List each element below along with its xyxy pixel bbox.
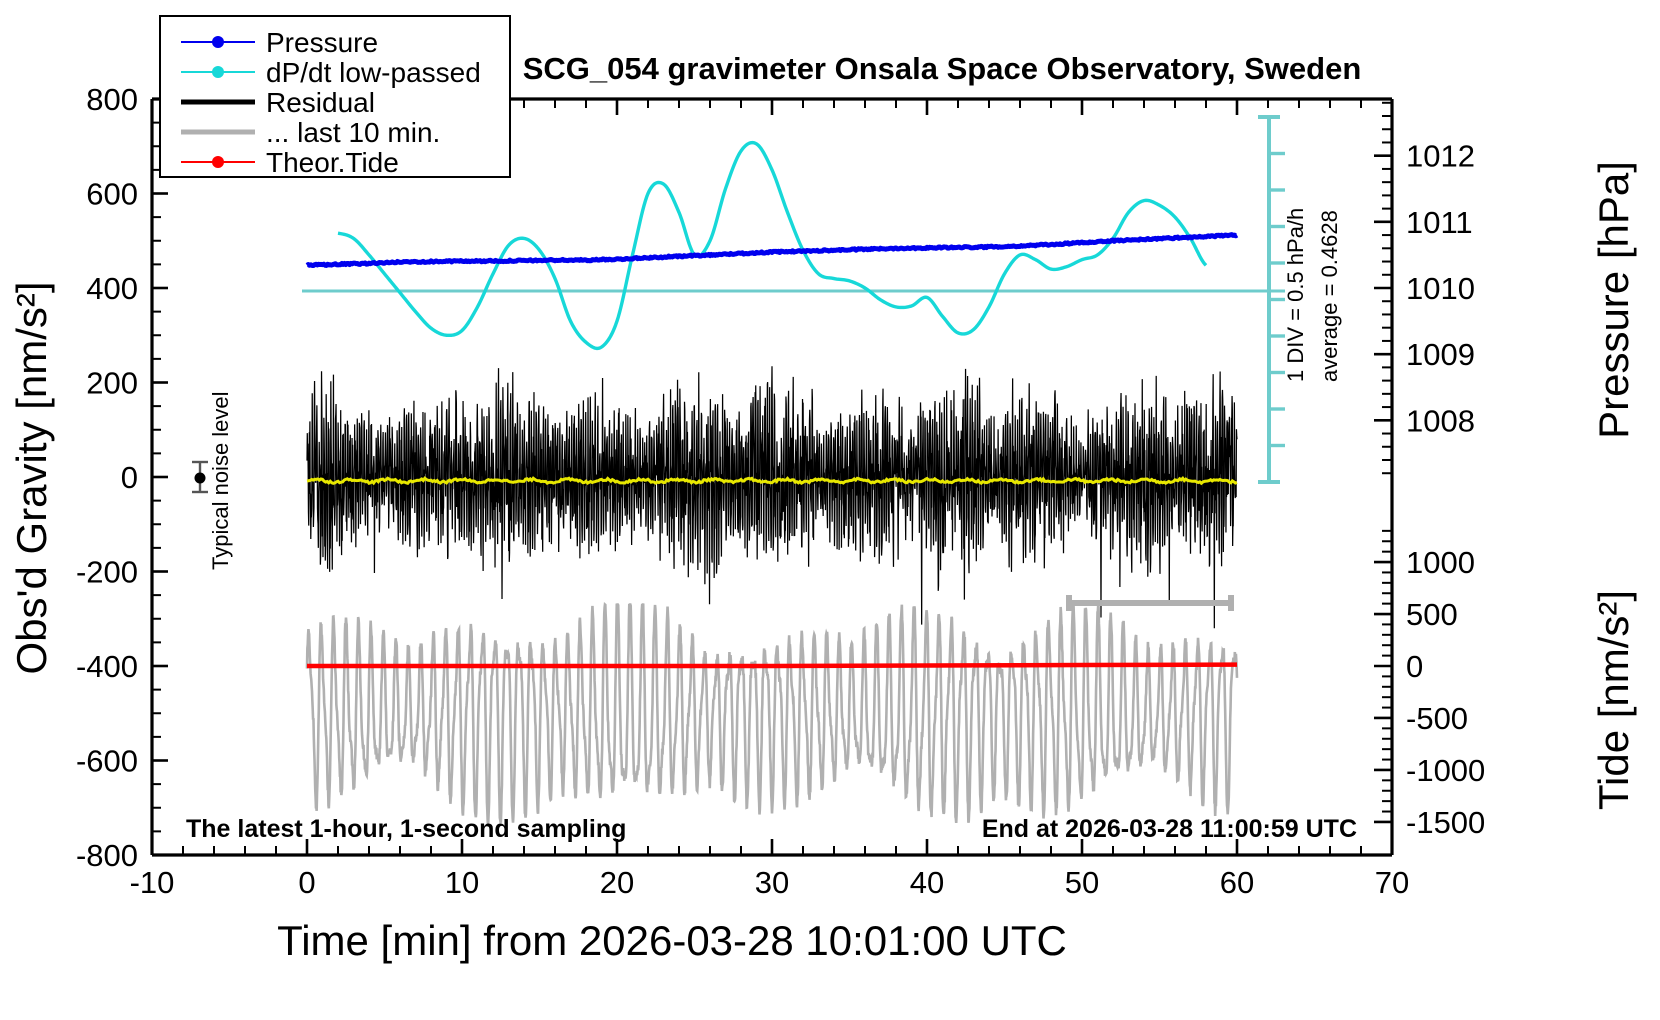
gravimeter-plot-page: -800-600-400-2000200400600800 Obs'd Grav… <box>0 0 1660 1020</box>
right-tide-axis-title: Tide [nm/s²] <box>1590 590 1637 810</box>
footer-left: The latest 1-hour, 1-second sampling <box>186 815 626 843</box>
legend: PressuredP/dt low-passedResidual... last… <box>160 16 510 178</box>
left-tick-label: 800 <box>86 82 138 117</box>
legend-swatch-dot <box>212 66 224 78</box>
right-pressure-axis: 10081009101010111012 <box>1374 103 1475 473</box>
x-axis-title: Time [min] from 2026-03-28 10:01:00 UTC <box>277 917 1067 964</box>
pressure-tick-label: 1008 <box>1406 403 1475 438</box>
series-pressure <box>307 235 1237 266</box>
left-tick-label: 400 <box>86 271 138 306</box>
x-tick-label: 50 <box>1065 865 1099 900</box>
left-axis-title: Obs'd Gravity [nm/s²] <box>8 281 55 674</box>
data-area <box>302 143 1285 827</box>
series-theoretical-tide <box>307 665 1237 666</box>
footer-right: End at 2026-03-28 11:00:59 UTC <box>982 815 1357 843</box>
legend-item-label: Theor.Tide <box>266 147 399 178</box>
x-tick-label: 70 <box>1375 865 1409 900</box>
right-pressure-axis-title: Pressure [hPa] <box>1590 161 1637 439</box>
x-tick-label: -10 <box>130 865 175 900</box>
last-10-min-span-bar <box>1069 595 1231 611</box>
legend-swatch-dot <box>212 36 224 48</box>
tide-tick-label: 0 <box>1406 649 1423 684</box>
legend-swatch-dot <box>212 156 224 168</box>
tide-tick-label: 500 <box>1406 597 1458 632</box>
x-tick-label: 60 <box>1220 865 1254 900</box>
tide-tick-label: 1000 <box>1406 545 1475 580</box>
left-tick-label: 600 <box>86 177 138 212</box>
dpdt-scale-bar <box>1258 117 1285 482</box>
series-residual <box>307 366 1237 628</box>
x-tick-label: 10 <box>445 865 479 900</box>
plot-canvas: -800-600-400-2000200400600800 Obs'd Grav… <box>0 0 1660 1020</box>
pressure-tick-label: 1011 <box>1406 205 1473 240</box>
x-tick-label: 30 <box>755 865 789 900</box>
div-scale-label: 1 DIV = 0.5 hPa/h <box>1283 208 1308 382</box>
tide-tick-label: -1500 <box>1406 805 1485 840</box>
typical-noise-label: Typical noise level <box>208 391 233 570</box>
left-tick-label: -400 <box>76 649 138 684</box>
tide-tick-label: -1000 <box>1406 753 1485 788</box>
bottom-x-axis: -10010203040506070 <box>130 839 1410 900</box>
x-tick-label: 40 <box>910 865 944 900</box>
pressure-tick-label: 1012 <box>1406 139 1475 174</box>
left-tick-label: -600 <box>76 744 138 779</box>
typical-noise-errorbar <box>192 462 208 492</box>
series-last-10-min <box>307 605 1237 827</box>
legend-item-label: ... last 10 min. <box>266 117 440 148</box>
left-tick-label: 200 <box>86 366 138 401</box>
page-title: SCG_054 gravimeter Onsala Space Observat… <box>523 51 1362 86</box>
legend-item-label: Pressure <box>266 27 378 58</box>
x-tick-label: 20 <box>600 865 634 900</box>
tide-tick-label: -500 <box>1406 701 1468 736</box>
legend-item-label: Residual <box>266 87 375 118</box>
left-y-axis: -800-600-400-2000200400600800 <box>76 82 168 873</box>
average-label: average = 0.4628 <box>1317 210 1342 382</box>
left-tick-label: -200 <box>76 555 138 590</box>
left-tick-label: 0 <box>121 460 138 495</box>
pressure-tick-label: 1010 <box>1406 271 1475 306</box>
x-tick-label: 0 <box>298 865 315 900</box>
legend-item-label: dP/dt low-passed <box>266 57 481 88</box>
pressure-tick-label: 1009 <box>1406 337 1475 372</box>
